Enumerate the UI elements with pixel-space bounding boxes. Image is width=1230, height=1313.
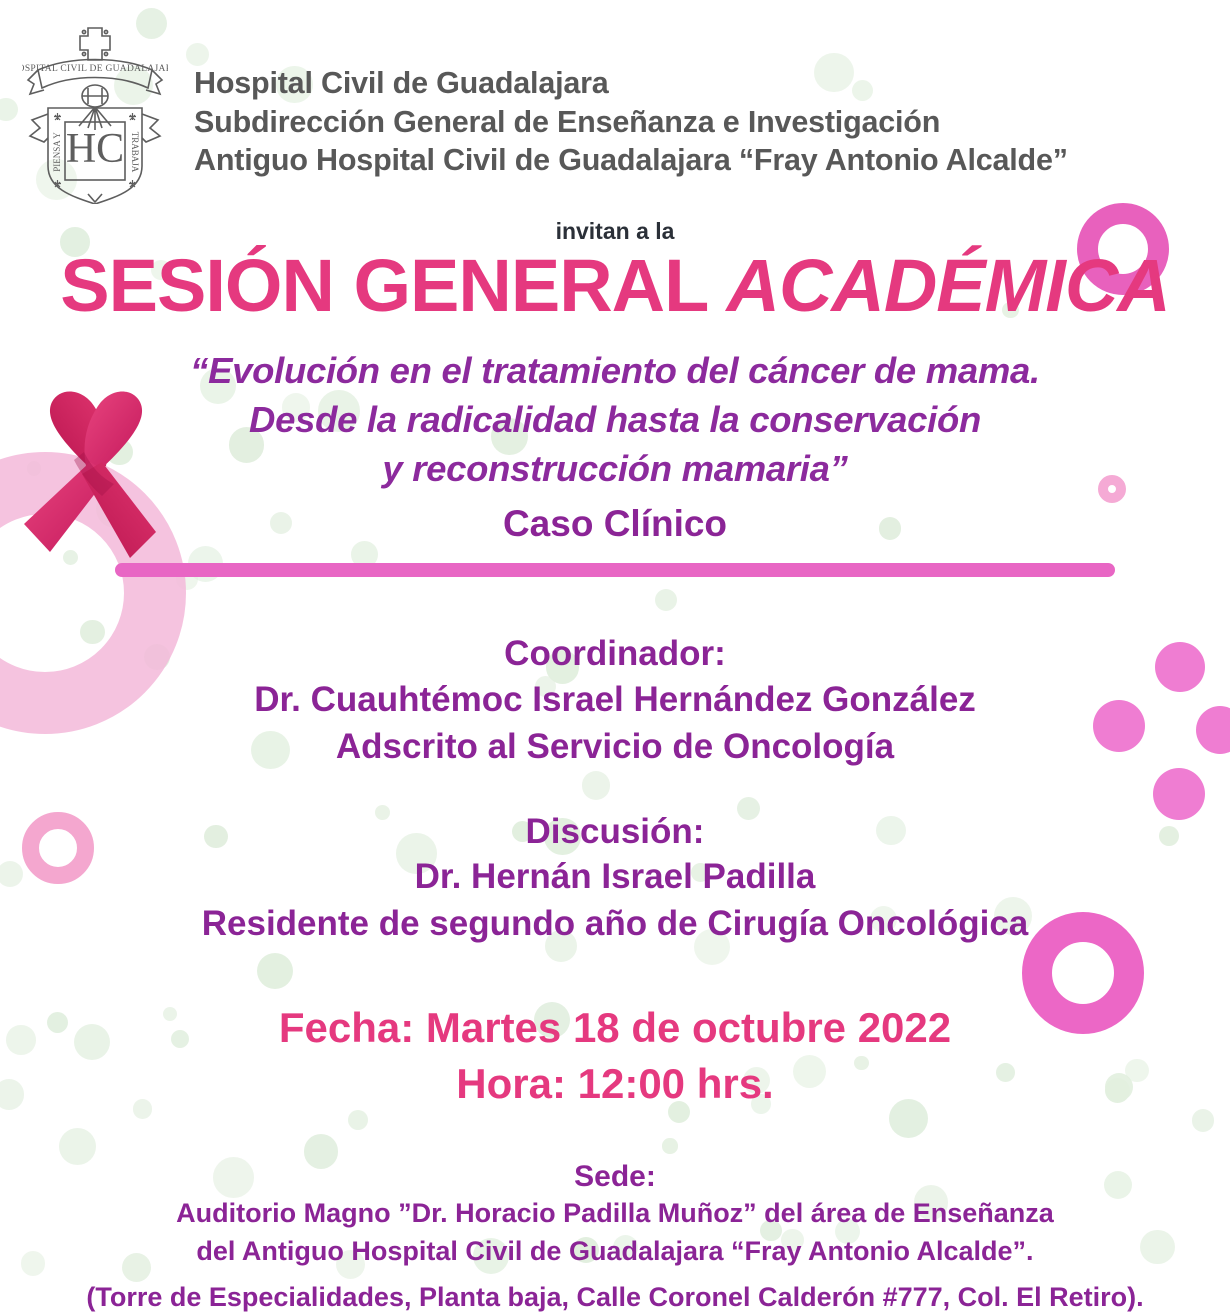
session-title-italic: ACADÉMICA — [727, 244, 1170, 327]
org-line-2: Subdirección General de Enseñanza e Inve… — [194, 103, 1068, 142]
venue-line-1: Auditorio Magno ”Dr. Horacio Padilla Muñ… — [0, 1194, 1230, 1232]
coordinator-name: Dr. Cuauhtémoc Israel Hernández González — [0, 677, 1230, 724]
topic-subtitle: Caso Clínico — [0, 503, 1230, 545]
org-line-1: Hospital Civil de Guadalajara — [194, 64, 1068, 103]
coordinator-position: Adscrito al Servicio de Oncología — [0, 724, 1230, 771]
people-section: Coordinador: Dr. Cuauhtémoc Israel Herná… — [0, 631, 1230, 948]
invitation-intro: invitan a la — [0, 218, 1230, 245]
coordinator-block: Coordinador: Dr. Cuauhtémoc Israel Herná… — [0, 631, 1230, 770]
venue-section: Sede: Auditorio Magno ”Dr. Horacio Padil… — [0, 1160, 1230, 1313]
discussion-label: Discusión: — [0, 809, 1230, 855]
venue-line-2: del Antiguo Hospital Civil de Guadalajar… — [0, 1232, 1230, 1270]
topic-line-3: y reconstrucción mamaria” — [0, 445, 1230, 494]
session-title-regular: SESIÓN GENERAL — [60, 244, 726, 327]
topic-title: “Evolución en el tratamiento del cáncer … — [0, 347, 1230, 494]
logo-motto-right: TRABAJA — [130, 132, 140, 173]
logo-motto-left: PIENSA Y — [52, 132, 62, 172]
event-time: Hora: 12:00 hrs. — [0, 1056, 1230, 1112]
organization-names: Hospital Civil de Guadalajara Subdirecci… — [194, 64, 1068, 180]
session-title: SESIÓN GENERAL ACADÉMICA — [0, 247, 1230, 325]
discussion-position: Residente de segundo año de Cirugía Onco… — [0, 901, 1230, 948]
topic-line-1: “Evolución en el tratamiento del cáncer … — [0, 347, 1230, 396]
coordinator-label: Coordinador: — [0, 631, 1230, 677]
date-time-section: Fecha: Martes 18 de octubre 2022 Hora: 1… — [0, 1000, 1230, 1112]
venue-label: Sede: — [0, 1160, 1230, 1194]
discussion-block: Discusión: Dr. Hernán Israel Padilla Res… — [0, 809, 1230, 948]
event-date: Fecha: Martes 18 de octubre 2022 — [0, 1000, 1230, 1056]
logo-banner-text: HOSPITAL CIVIL DE GUADALAJARA — [22, 64, 168, 74]
topic-line-2: Desde la radicalidad hasta la conservaci… — [0, 396, 1230, 445]
discussion-name: Dr. Hernán Israel Padilla — [0, 854, 1230, 901]
hospital-logo-icon: HOSPITAL CIVIL DE GUADALAJARA HC PIENSA … — [22, 22, 168, 204]
header: HOSPITAL CIVIL DE GUADALAJARA HC PIENSA … — [0, 0, 1230, 204]
logo-monogram: HC — [66, 126, 124, 172]
venue-address: (Torre de Especialidades, Planta baja, C… — [0, 1282, 1230, 1313]
org-line-3: Antiguo Hospital Civil de Guadalajara “F… — [194, 141, 1068, 180]
